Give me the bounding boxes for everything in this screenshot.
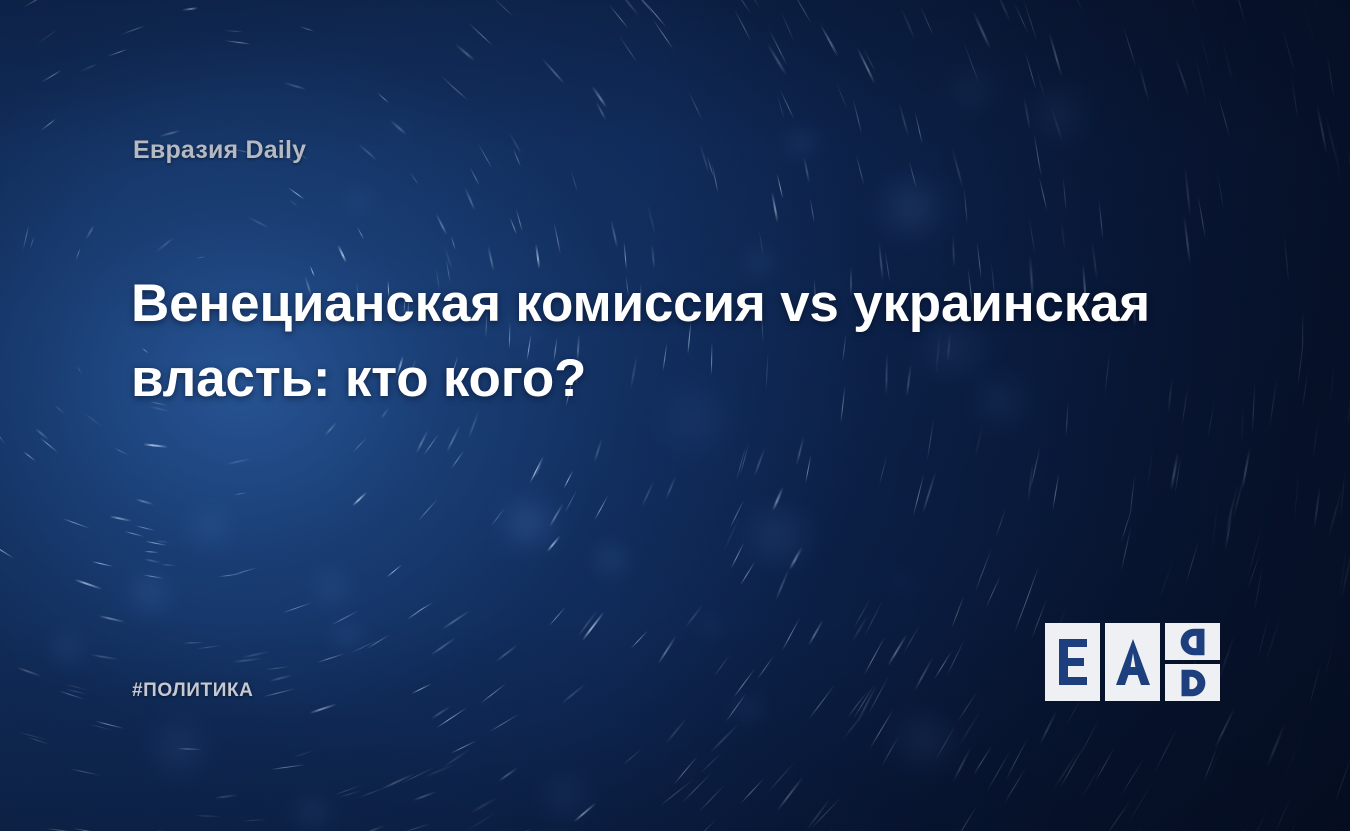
- logo-column-e: [1045, 623, 1100, 701]
- category-hashtag[interactable]: #ПОЛИТИКА: [132, 680, 254, 702]
- logo-tile-d: [1165, 664, 1220, 701]
- logo-tile-a: [1105, 623, 1160, 701]
- logo-column-d: [1165, 623, 1220, 701]
- eadaily-logo[interactable]: [1045, 623, 1221, 701]
- article-headline: Венецианская комиссия vs украинская влас…: [131, 266, 1201, 417]
- logo-tile-d-rotated: [1165, 623, 1220, 660]
- social-share-card: Евразия Daily Венецианская комиссия vs у…: [0, 0, 1350, 831]
- logo-tile-e: [1045, 623, 1100, 701]
- publication-masthead[interactable]: Евразия Daily: [133, 136, 306, 165]
- logo-column-a: [1105, 623, 1160, 701]
